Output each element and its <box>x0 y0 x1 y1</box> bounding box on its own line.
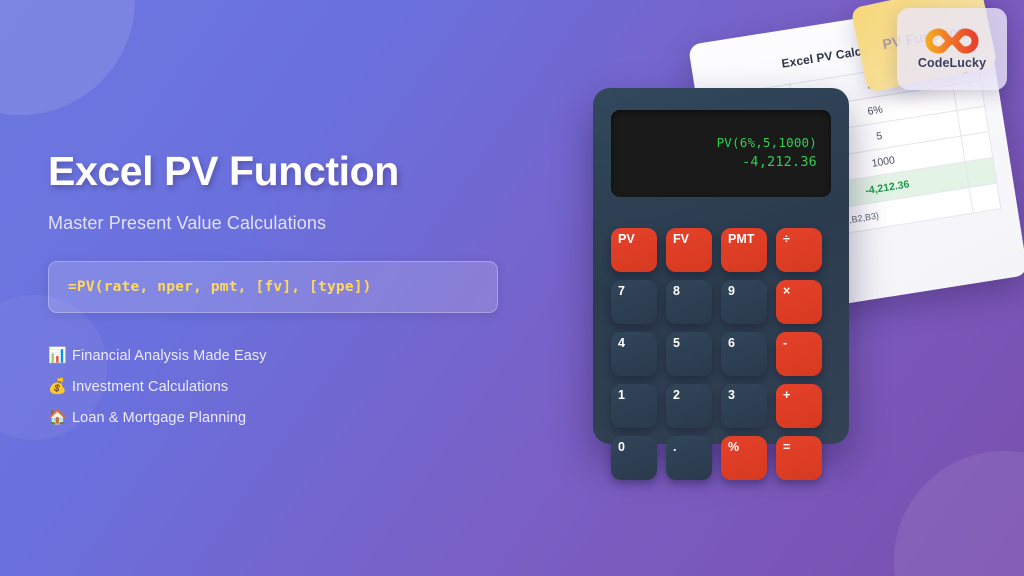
key-pv[interactable]: PV <box>611 228 657 272</box>
key-label: + <box>783 389 790 402</box>
key-label: × <box>783 285 790 298</box>
key-multiply[interactable]: × <box>776 280 822 324</box>
feature-label: Loan & Mortgage Planning <box>72 410 246 426</box>
key-pmt[interactable]: PMT <box>721 228 767 272</box>
key-label: PV <box>618 233 635 246</box>
key-label: 8 <box>673 285 680 298</box>
calculator-keypad[interactable]: PV FV PMT ÷ 7 8 9 × 4 5 6 - 1 2 3 + 0 . … <box>611 228 833 480</box>
key-label: 7 <box>618 285 625 298</box>
key-7[interactable]: 7 <box>611 280 657 324</box>
key-label: 2 <box>673 389 680 402</box>
money-bag-icon: 💰 <box>48 379 72 394</box>
bar-chart-icon: 📊 <box>48 348 72 363</box>
code-snippet-text: =PV(rate, nper, pmt, [fv], [type]) <box>68 279 372 295</box>
feature-item-loan-mortgage-planning: 🏠 Loan & Mortgage Planning <box>48 402 518 433</box>
house-icon: 🏠 <box>48 410 72 425</box>
cell-c5 <box>969 183 1001 213</box>
key-9[interactable]: 9 <box>721 280 767 324</box>
key-label: 3 <box>728 389 735 402</box>
hero-panel: Excel PV Function Master Present Value C… <box>48 150 518 433</box>
background-circle-bottom-right <box>894 451 1024 576</box>
calculator-display: PV(6%,5,1000) -4,212.36 <box>611 110 831 197</box>
feature-label: Investment Calculations <box>72 379 228 395</box>
key-label: 6 <box>728 337 735 350</box>
key-fv[interactable]: FV <box>666 228 712 272</box>
key-label: 5 <box>673 337 680 350</box>
key-label: . <box>673 441 676 454</box>
infinity-icon <box>925 28 979 54</box>
page-subtitle: Master Present Value Calculations <box>48 213 518 234</box>
brand-logo-badge: CodeLucky <box>897 8 1007 90</box>
key-plus[interactable]: + <box>776 384 822 428</box>
key-label: 0 <box>618 441 625 454</box>
key-label: - <box>783 337 787 350</box>
key-equals[interactable]: = <box>776 436 822 480</box>
page-title: Excel PV Function <box>48 150 518 193</box>
key-8[interactable]: 8 <box>666 280 712 324</box>
feature-item-investment-calculations: 💰 Investment Calculations <box>48 371 518 402</box>
calculator-result: -4,212.36 <box>742 154 817 170</box>
key-3[interactable]: 3 <box>721 384 767 428</box>
key-6[interactable]: 6 <box>721 332 767 376</box>
key-minus[interactable]: - <box>776 332 822 376</box>
key-label: = <box>783 441 790 454</box>
key-4[interactable]: 4 <box>611 332 657 376</box>
key-label: 9 <box>728 285 735 298</box>
key-1[interactable]: 1 <box>611 384 657 428</box>
key-percent[interactable]: % <box>721 436 767 480</box>
key-label: FV <box>673 233 689 246</box>
feature-list: 📊 Financial Analysis Made Easy 💰 Investm… <box>48 340 518 433</box>
key-5[interactable]: 5 <box>666 332 712 376</box>
key-label: 1 <box>618 389 625 402</box>
key-label: PMT <box>728 233 754 246</box>
key-0[interactable]: 0 <box>611 436 657 480</box>
key-label: % <box>728 441 739 454</box>
feature-item-financial-analysis: 📊 Financial Analysis Made Easy <box>48 340 518 371</box>
background-circle-top-left <box>0 0 135 115</box>
feature-label: Financial Analysis Made Easy <box>72 348 267 364</box>
key-2[interactable]: 2 <box>666 384 712 428</box>
key-label: ÷ <box>783 233 790 246</box>
code-snippet-box: =PV(rate, nper, pmt, [fv], [type]) <box>48 261 498 313</box>
key-label: 4 <box>618 337 625 350</box>
key-decimal[interactable]: . <box>666 436 712 480</box>
brand-name: CodeLucky <box>918 56 986 70</box>
calculator-expression: PV(6%,5,1000) <box>717 135 817 150</box>
key-divide[interactable]: ÷ <box>776 228 822 272</box>
